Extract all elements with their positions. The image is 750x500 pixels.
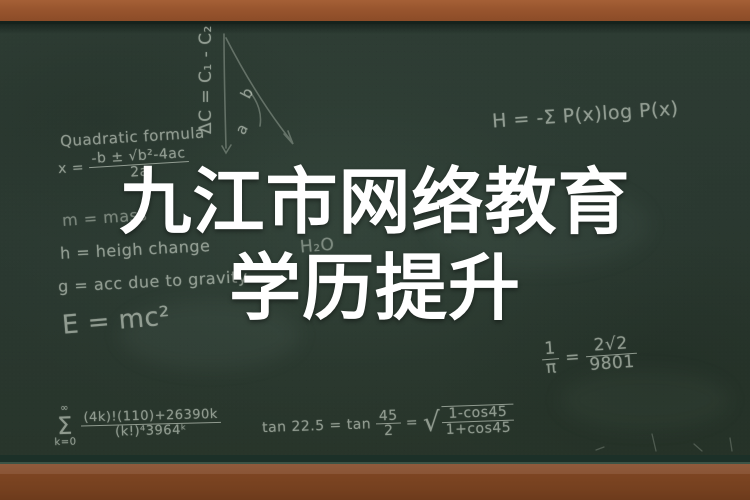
chalk-ramanujan-fraction: (4k)!(110)+26390k (k!)⁴3964ᵏ	[80, 408, 221, 440]
chalk-tangent-lhs: tan 22.5 = tan	[262, 416, 372, 436]
frame-bottom-wood	[0, 474, 750, 500]
chalk-pi-rhs-fraction: 2√2 9801	[585, 335, 639, 375]
page-title-line-1: 九江市网络教育	[0, 166, 750, 238]
chalk-pi-equals: =	[565, 347, 581, 368]
chalk-tangent-equals: =	[406, 415, 419, 431]
chalk-pi-lhs-fraction: 1 π	[541, 340, 561, 378]
chalk-delta-c-vertical: ΔC = C₁ - C₂	[196, 25, 216, 134]
chalk-ramanujan-series: ∞ Σ k=0 (4k)!(110)+26390k (k!)⁴3964ᵏ	[53, 400, 221, 448]
chalk-summation-operator: ∞ Σ k=0	[53, 404, 76, 449]
chalk-stray-marks	[590, 418, 740, 454]
chalk-pi-rhs-denominator: 9801	[586, 354, 638, 375]
chalk-pi-identity: 1 π = 2√2 9801	[541, 335, 638, 378]
frame-bottom-board-edge	[0, 455, 750, 462]
frame-bottom-chalk-ledge	[0, 464, 750, 474]
page-title-line-2: 学历提升	[0, 252, 750, 324]
chalk-pi-lhs-denominator: π	[542, 359, 561, 378]
chalk-tangent-radicand-denominator: 1+cos45	[442, 420, 514, 437]
frame-top-wood	[0, 0, 750, 21]
chalk-tangent-arg-denominator: 2	[376, 424, 401, 440]
frame-top-shadow-line	[0, 21, 750, 24]
chalk-sum-symbol: Σ	[54, 414, 77, 439]
chalk-tangent-arg-fraction: 45 2	[376, 408, 402, 439]
chalk-sum-lower-limit: k=0	[54, 438, 76, 449]
chalk-tangent-arg-numerator: 45	[376, 408, 401, 425]
chalk-tangent-radicand-fraction: 1-cos45 1+cos45	[442, 404, 515, 438]
frame-bottom-highlight-line	[0, 462, 750, 464]
chalk-ramanujan-denominator: (k!)⁴3964ᵏ	[81, 422, 222, 439]
chalkboard-banner: b a ΔC = C₁ - C₂ Quadratic formula x = -…	[0, 0, 750, 500]
chalk-radical-icon: √	[423, 407, 442, 439]
